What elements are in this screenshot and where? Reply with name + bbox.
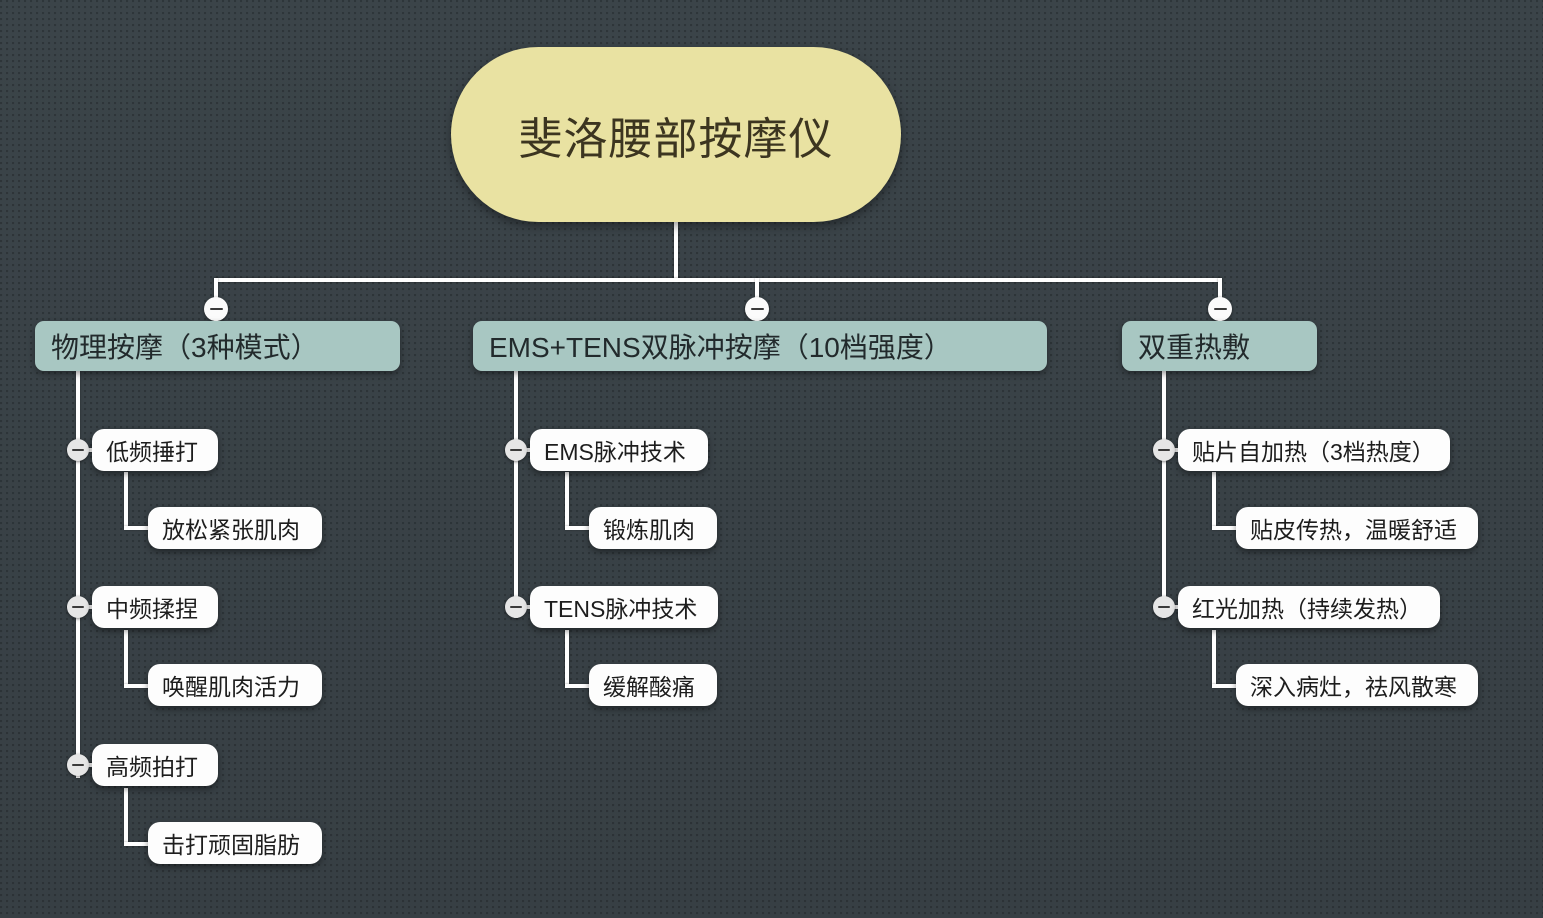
collapse-toggle-3-2[interactable]	[1153, 596, 1175, 618]
child-node-2-2[interactable]: TENS脉冲技术	[530, 586, 718, 628]
connector-elbow-v-2a	[565, 472, 569, 528]
branch-node-1[interactable]: 物理按摩（3种模式）	[35, 321, 400, 371]
collapse-toggle-branch-1[interactable]	[204, 297, 228, 321]
connector-elbow-v-1c	[124, 788, 128, 844]
connector-root-stem	[674, 220, 678, 280]
connector-spine-branch-3	[1162, 368, 1166, 618]
minus-icon	[1158, 606, 1170, 608]
collapse-toggle-1-2[interactable]	[67, 596, 89, 618]
connector-elbow-v-3b	[1212, 630, 1216, 686]
minus-icon	[72, 449, 84, 451]
detail-node-1-1[interactable]: 放松紧张肌肉	[148, 507, 322, 549]
collapse-toggle-1-1[interactable]	[67, 439, 89, 461]
minus-icon	[210, 308, 223, 310]
detail-node-3-2[interactable]: 深入病灶，祛风散寒	[1236, 664, 1478, 706]
collapse-toggle-2-2[interactable]	[505, 596, 527, 618]
minus-icon	[72, 606, 84, 608]
connector-elbow-v-1a	[124, 472, 128, 528]
detail-node-1-3[interactable]: 击打顽固脂肪	[148, 822, 322, 864]
collapse-toggle-branch-3[interactable]	[1208, 297, 1232, 321]
connector-elbow-v-3a	[1212, 472, 1216, 528]
minus-icon	[72, 764, 84, 766]
root-node[interactable]: 斐洛腰部按摩仪	[451, 47, 901, 222]
detail-node-3-1[interactable]: 贴皮传热，温暖舒适	[1236, 507, 1478, 549]
collapse-toggle-1-3[interactable]	[67, 754, 89, 776]
detail-node-2-2[interactable]: 缓解酸痛	[589, 664, 717, 706]
child-node-2-1[interactable]: EMS脉冲技术	[530, 429, 708, 471]
child-node-1-1[interactable]: 低频捶打	[92, 429, 218, 471]
branch-node-3[interactable]: 双重热敷	[1122, 321, 1317, 371]
connector-spine-branch-2	[514, 368, 518, 618]
collapse-toggle-3-1[interactable]	[1153, 439, 1175, 461]
collapse-toggle-branch-2[interactable]	[745, 297, 769, 321]
minus-icon	[751, 308, 764, 310]
minus-icon	[510, 449, 522, 451]
connector-root-bus	[214, 278, 1222, 282]
minus-icon	[1214, 308, 1227, 310]
detail-node-2-1[interactable]: 锻炼肌肉	[589, 507, 717, 549]
child-node-3-1[interactable]: 贴片自加热（3档热度）	[1178, 429, 1450, 471]
minus-icon	[1158, 449, 1170, 451]
connector-elbow-v-2b	[565, 630, 569, 686]
child-node-3-2[interactable]: 红光加热（持续发热）	[1178, 586, 1440, 628]
connector-elbow-v-1b	[124, 630, 128, 686]
collapse-toggle-2-1[interactable]	[505, 439, 527, 461]
child-node-1-3[interactable]: 高频拍打	[92, 744, 218, 786]
detail-node-1-2[interactable]: 唤醒肌肉活力	[148, 664, 322, 706]
mindmap-canvas: 斐洛腰部按摩仪 物理按摩（3种模式） EMS+TENS双脉冲按摩（10档强度） …	[0, 0, 1543, 918]
connector-spine-branch-1	[76, 368, 80, 778]
branch-node-2[interactable]: EMS+TENS双脉冲按摩（10档强度）	[473, 321, 1047, 371]
minus-icon	[510, 606, 522, 608]
child-node-1-2[interactable]: 中频揉捏	[92, 586, 218, 628]
